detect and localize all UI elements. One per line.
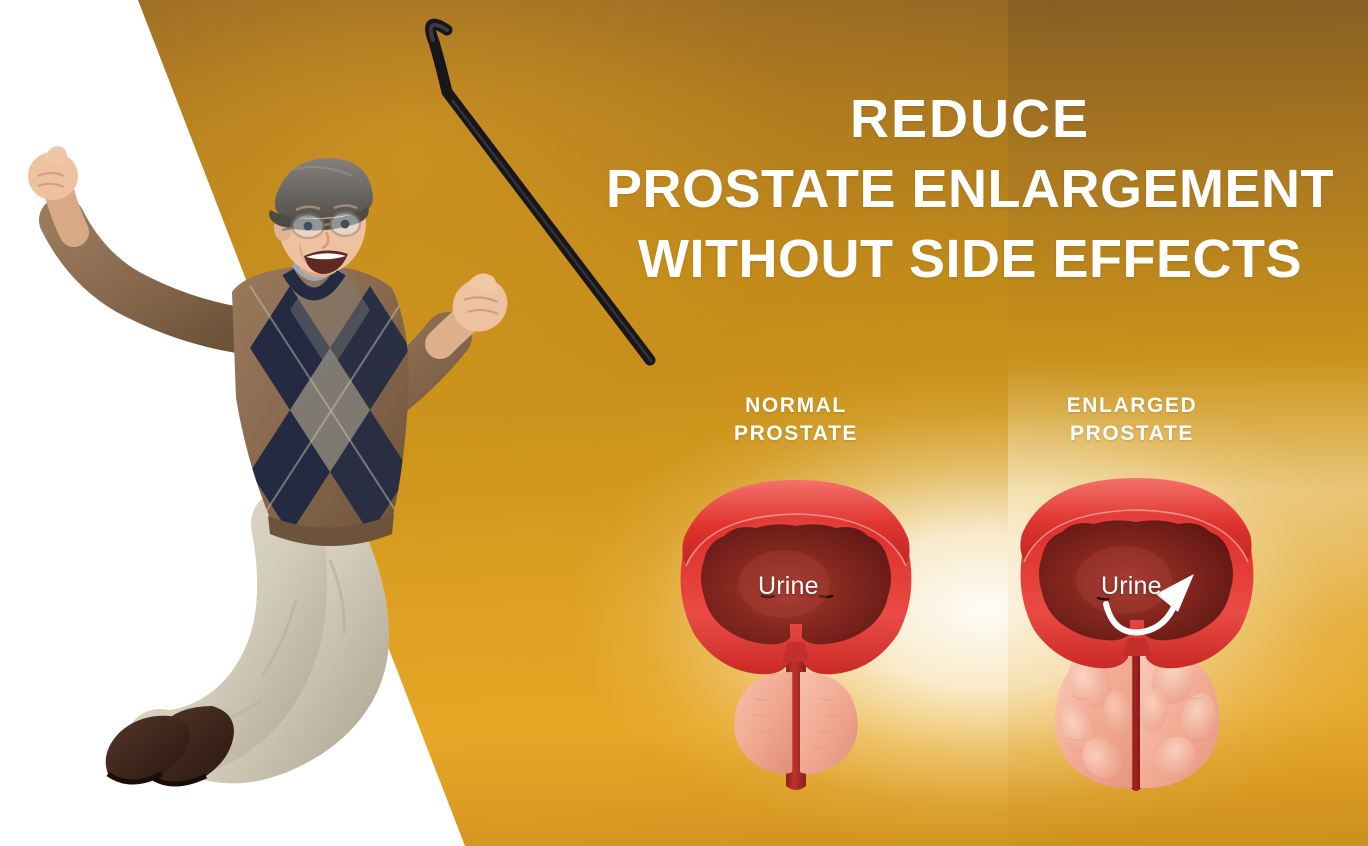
headline-line-3: WITHOUT SIDE EFFECTS [600,232,1340,286]
normal-prostate-label: NORMAL PROSTATE [690,392,902,447]
normal-urine-label: Urine [758,572,819,601]
headline-line-2: PROSTATE ENLARGEMENT [600,162,1340,216]
head [269,158,373,278]
prostate-health-banner: REDUCE PROSTATE ENLARGEMENT WITHOUT SIDE… [0,0,1368,846]
page-title: REDUCE PROSTATE ENLARGEMENT WITHOUT SIDE… [600,92,1340,286]
legs [106,520,352,784]
enlarged-label-line-2: PROSTATE [1026,420,1238,448]
raised-arm [28,146,238,330]
enlarged-prostate-diagram [1002,466,1270,806]
normal-label-line-2: PROSTATE [690,420,902,448]
normal-label-line-1: NORMAL [690,392,902,420]
normal-prostate-diagram [668,466,924,806]
enlarged-label-line-1: ENLARGED [1026,392,1238,420]
enlarged-urine-label: Urine [1101,572,1162,601]
enlarged-prostate-label: ENLARGED PROSTATE [1026,392,1238,447]
jumping-elderly-man-illustration [0,0,700,846]
headline-line-1: REDUCE [600,92,1340,146]
argyle-sweater [230,248,412,546]
